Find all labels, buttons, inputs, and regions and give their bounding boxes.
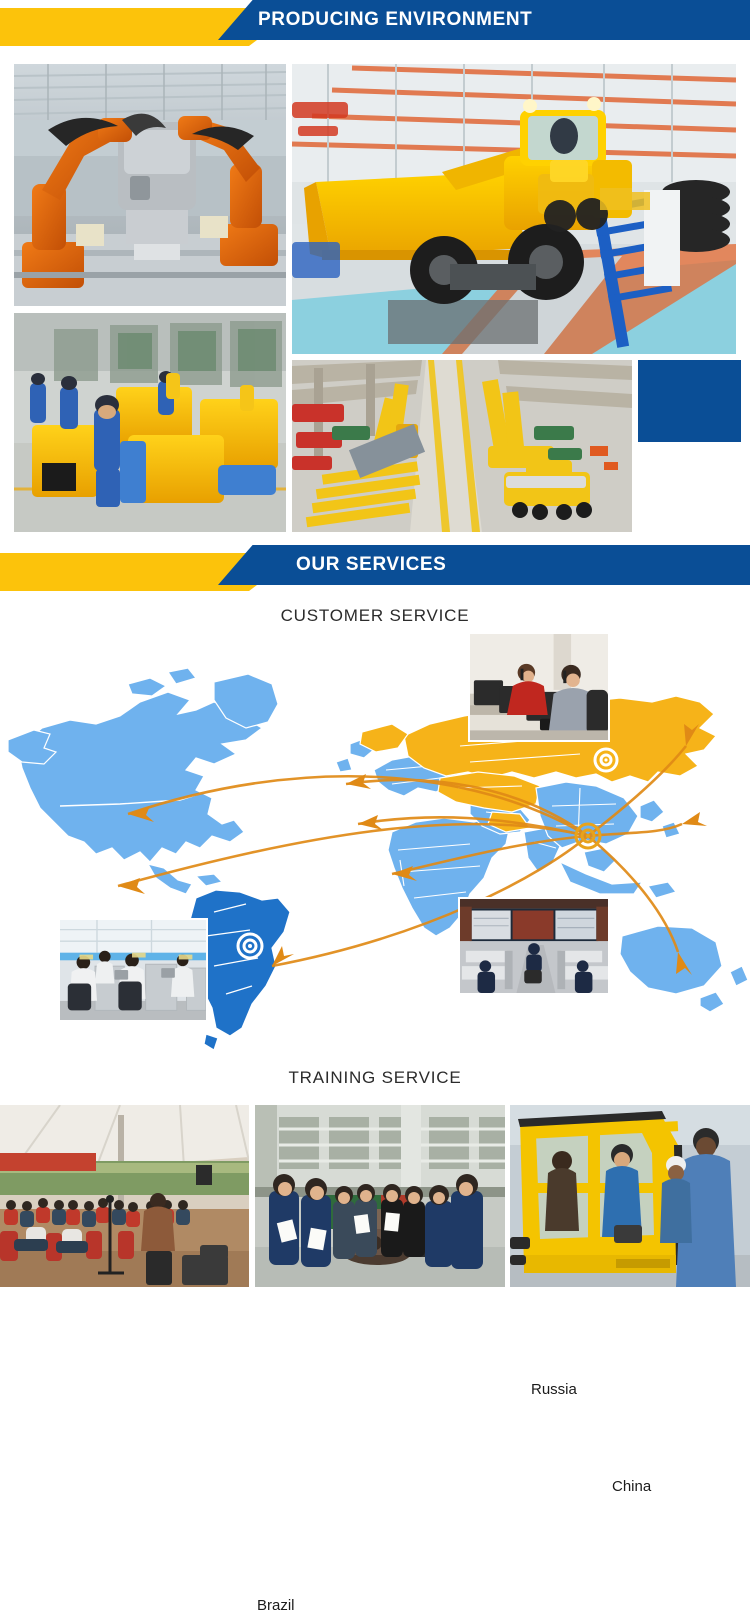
page-root: PRODUCING ENVIRONMENT <box>0 0 750 1300</box>
customer-service-title: CUSTOMER SERVICE <box>0 606 750 626</box>
brazil-office-photo <box>58 918 208 1022</box>
outdoor-training-tent-photo <box>0 1105 249 1287</box>
wheel-loader-assembly-photo <box>292 64 736 354</box>
crane-yard-overview-photo <box>292 360 632 532</box>
cab-assembly-line-photo <box>14 313 286 532</box>
china-control-room-photo <box>458 897 610 995</box>
banner-title-producing-environment: PRODUCING ENVIRONMENT <box>218 0 750 40</box>
russia-call-center-photo <box>468 632 610 742</box>
banner-our-services: OUR SERVICES <box>0 545 750 597</box>
banner-producing-environment: PRODUCING ENVIRONMENT <box>0 0 750 52</box>
banner-title-our-services: OUR SERVICES <box>218 545 750 585</box>
training-service-title: TRAINING SERVICE <box>0 1068 750 1088</box>
operator-cab-training-photo <box>510 1105 750 1287</box>
map-label-brazil: Brazil <box>257 1597 295 1614</box>
robot-welding-line-photo <box>14 64 286 306</box>
blue-accent-block <box>638 360 741 442</box>
map-label-russia: Russia <box>531 1381 577 1398</box>
component-training-photo <box>255 1105 505 1287</box>
map-label-china: China <box>612 1478 651 1495</box>
